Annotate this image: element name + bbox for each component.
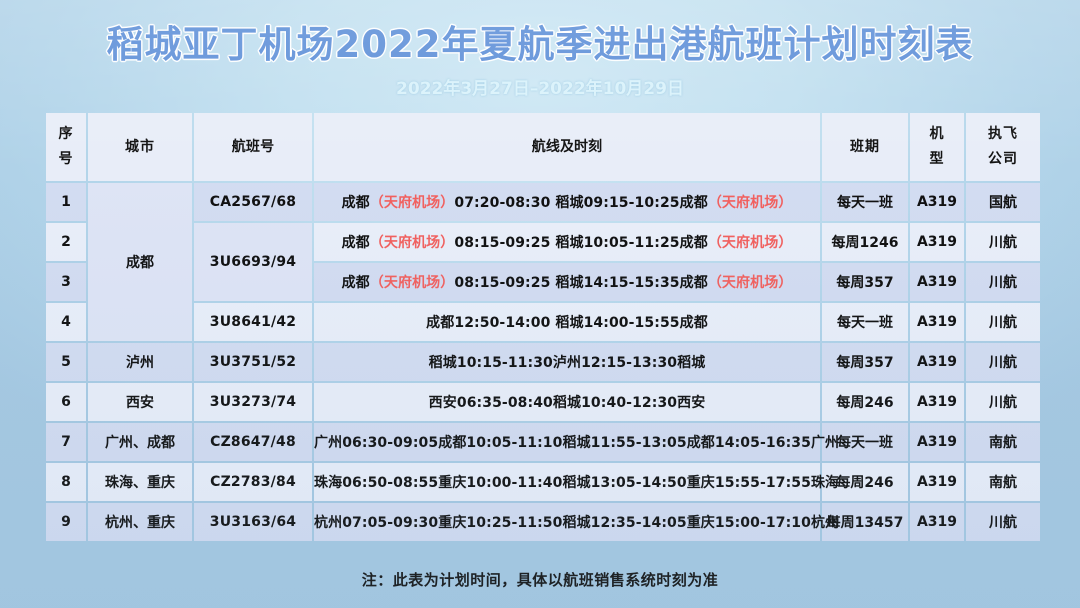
cell-route-and-times: 成都（天府机场）08:15-09:25 稻城10:05-11:25成都（天府机场…: [314, 223, 820, 261]
cell-airline: 川航: [966, 383, 1040, 421]
cell-schedule: 每周357: [822, 263, 908, 301]
column-header-aircraft-type: 机 型: [910, 113, 964, 181]
cell-route-and-times: 广州06:30-09:05成都10:05-11:10稻城11:55-13:05成…: [314, 423, 820, 461]
flight-schedule-table: 序 号 城市 航班号 航线及时刻 班期 机 型 执飞 公司: [44, 111, 1042, 543]
cell-flight-number: CZ8647/48: [194, 423, 312, 461]
cell-city: 成都: [88, 183, 192, 341]
table-body: 1成都CA2567/68成都（天府机场）07:20-08:30 稻城09:15-…: [46, 183, 1040, 541]
slide-canvas: 稻城亚丁机场2022年夏航季进出港航班计划时刻表 2022年3月27日–2022…: [0, 0, 1080, 608]
cell-airline: 川航: [966, 503, 1040, 541]
table-row: 43U8641/42成都12:50-14:00 稻城14:00-15:55成都每…: [46, 303, 1040, 341]
cell-index: 9: [46, 503, 86, 541]
table-row: 7广州、成都CZ8647/48广州06:30-09:05成都10:05-11:1…: [46, 423, 1040, 461]
cell-route-and-times: 稻城10:15-11:30泸州12:15-13:30稻城: [314, 343, 820, 381]
route-highlight-segment: （天府机场）: [370, 235, 455, 251]
cell-city: 杭州、重庆: [88, 503, 192, 541]
route-text: 成都（天府机场）08:15-09:25 稻城14:15-15:35成都（天府机场…: [342, 275, 793, 291]
column-header-index: 序 号: [46, 113, 86, 181]
cell-flight-number: 3U3751/52: [194, 343, 312, 381]
cell-city: 西安: [88, 383, 192, 421]
cell-aircraft-type: A319: [910, 303, 964, 341]
route-segment: 杭州07:05-09:30重庆10:25-11:50稻城12:35-14:05重…: [314, 515, 839, 531]
page-title: 稻城亚丁机场2022年夏航季进出港航班计划时刻表: [0, 22, 1080, 68]
cell-airline: 南航: [966, 463, 1040, 501]
cell-aircraft-type: A319: [910, 463, 964, 501]
cell-schedule: 每周13457: [822, 503, 908, 541]
cell-aircraft-type: A319: [910, 423, 964, 461]
cell-city: 泸州: [88, 343, 192, 381]
schedule-table-container: 序 号 城市 航班号 航线及时刻 班期 机 型 执飞 公司: [44, 111, 1036, 543]
table-row: 23U6693/94成都（天府机场）08:15-09:25 稻城10:05-11…: [46, 223, 1040, 261]
route-segment: 西安06:35-08:40稻城10:40-12:30西安: [429, 395, 706, 411]
cell-aircraft-type: A319: [910, 383, 964, 421]
cell-schedule: 每天一班: [822, 183, 908, 221]
cell-schedule: 每周246: [822, 383, 908, 421]
route-segment: 成都: [342, 235, 370, 251]
route-highlight-segment: （天府机场）: [708, 275, 793, 291]
cell-route-and-times: 成都12:50-14:00 稻城14:00-15:55成都: [314, 303, 820, 341]
cell-route-and-times: 成都（天府机场）07:20-08:30 稻城09:15-10:25成都（天府机场…: [314, 183, 820, 221]
route-segment: 成都: [342, 195, 370, 211]
cell-flight-number: CA2567/68: [194, 183, 312, 221]
cell-index: 4: [46, 303, 86, 341]
route-segment: 珠海06:50-08:55重庆10:00-11:40稻城13:05-14:50重…: [314, 475, 839, 491]
route-text: 西安06:35-08:40稻城10:40-12:30西安: [429, 395, 706, 411]
cell-index: 5: [46, 343, 86, 381]
cell-city: 广州、成都: [88, 423, 192, 461]
route-segment: 广州06:30-09:05成都10:05-11:10稻城11:55-13:05成…: [314, 435, 839, 451]
cell-flight-number: 3U8641/42: [194, 303, 312, 341]
cell-flight-number: 3U3273/74: [194, 383, 312, 421]
route-segment: 08:15-09:25 稻城10:05-11:25成都: [454, 235, 707, 251]
cell-schedule: 每周1246: [822, 223, 908, 261]
cell-route-and-times: 珠海06:50-08:55重庆10:00-11:40稻城13:05-14:50重…: [314, 463, 820, 501]
cell-index: 6: [46, 383, 86, 421]
route-highlight-segment: （天府机场）: [370, 275, 455, 291]
cell-aircraft-type: A319: [910, 263, 964, 301]
route-segment: 成都12:50-14:00 稻城14:00-15:55成都: [426, 315, 708, 331]
cell-airline: 川航: [966, 223, 1040, 261]
cell-route-and-times: 杭州07:05-09:30重庆10:25-11:50稻城12:35-14:05重…: [314, 503, 820, 541]
table-row: 1成都CA2567/68成都（天府机场）07:20-08:30 稻城09:15-…: [46, 183, 1040, 221]
route-text: 稻城10:15-11:30泸州12:15-13:30稻城: [429, 355, 706, 371]
cell-index: 2: [46, 223, 86, 261]
route-segment: 07:20-08:30 稻城09:15-10:25成都: [454, 195, 707, 211]
cell-aircraft-type: A319: [910, 183, 964, 221]
route-highlight-segment: （天府机场）: [708, 195, 793, 211]
route-text: 成都（天府机场）07:20-08:30 稻城09:15-10:25成都（天府机场…: [342, 195, 793, 211]
column-header-route-and-times: 航线及时刻: [314, 113, 820, 181]
route-segment: 08:15-09:25 稻城14:15-15:35成都: [454, 275, 707, 291]
column-header-aircraft-type-line2: 型: [910, 147, 964, 172]
cell-index: 7: [46, 423, 86, 461]
cell-aircraft-type: A319: [910, 503, 964, 541]
cell-index: 1: [46, 183, 86, 221]
cell-flight-number: CZ2783/84: [194, 463, 312, 501]
table-row: 6西安3U3273/74西安06:35-08:40稻城10:40-12:30西安…: [46, 383, 1040, 421]
page-subtitle: 2022年3月27日–2022年10月29日: [0, 78, 1080, 100]
cell-city: 珠海、重庆: [88, 463, 192, 501]
table-row: 8珠海、重庆CZ2783/84珠海06:50-08:55重庆10:00-11:4…: [46, 463, 1040, 501]
cell-route-and-times: 成都（天府机场）08:15-09:25 稻城14:15-15:35成都（天府机场…: [314, 263, 820, 301]
cell-aircraft-type: A319: [910, 223, 964, 261]
column-header-airline-line2: 公司: [966, 147, 1040, 172]
cell-index: 3: [46, 263, 86, 301]
route-highlight-segment: （天府机场）: [708, 235, 793, 251]
route-text: 成都（天府机场）08:15-09:25 稻城10:05-11:25成都（天府机场…: [342, 235, 793, 251]
cell-flight-number: 3U6693/94: [194, 223, 312, 301]
cell-airline: 川航: [966, 303, 1040, 341]
cell-airline: 川航: [966, 343, 1040, 381]
table-header-row: 序 号 城市 航班号 航线及时刻 班期 机 型 执飞 公司: [46, 113, 1040, 181]
column-header-airline: 执飞 公司: [966, 113, 1040, 181]
column-header-flight-number: 航班号: [194, 113, 312, 181]
route-text: 成都12:50-14:00 稻城14:00-15:55成都: [426, 315, 708, 331]
column-header-airline-line1: 执飞: [966, 122, 1040, 147]
column-header-schedule: 班期: [822, 113, 908, 181]
column-header-aircraft-type-line1: 机: [910, 122, 964, 147]
route-highlight-segment: （天府机场）: [370, 195, 455, 211]
route-segment: 成都: [342, 275, 370, 291]
cell-airline: 南航: [966, 423, 1040, 461]
column-header-city: 城市: [88, 113, 192, 181]
cell-aircraft-type: A319: [910, 343, 964, 381]
cell-airline: 川航: [966, 263, 1040, 301]
footnote: 注：此表为计划时间，具体以航班销售系统时刻为准: [0, 569, 1080, 590]
table-row: 5泸州3U3751/52稻城10:15-11:30泸州12:15-13:30稻城…: [46, 343, 1040, 381]
route-text: 珠海06:50-08:55重庆10:00-11:40稻城13:05-14:50重…: [314, 475, 839, 491]
cell-flight-number: 3U3163/64: [194, 503, 312, 541]
cell-schedule: 每周357: [822, 343, 908, 381]
route-text: 广州06:30-09:05成都10:05-11:10稻城11:55-13:05成…: [314, 435, 839, 451]
route-segment: 稻城10:15-11:30泸州12:15-13:30稻城: [429, 355, 706, 371]
table-head: 序 号 城市 航班号 航线及时刻 班期 机 型 执飞 公司: [46, 113, 1040, 181]
table-row: 9杭州、重庆3U3163/64杭州07:05-09:30重庆10:25-11:5…: [46, 503, 1040, 541]
cell-schedule: 每天一班: [822, 303, 908, 341]
cell-airline: 国航: [966, 183, 1040, 221]
route-text: 杭州07:05-09:30重庆10:25-11:50稻城12:35-14:05重…: [314, 515, 839, 531]
cell-route-and-times: 西安06:35-08:40稻城10:40-12:30西安: [314, 383, 820, 421]
column-header-index-line2: 号: [46, 147, 86, 172]
column-header-index-line1: 序: [46, 122, 86, 147]
cell-index: 8: [46, 463, 86, 501]
